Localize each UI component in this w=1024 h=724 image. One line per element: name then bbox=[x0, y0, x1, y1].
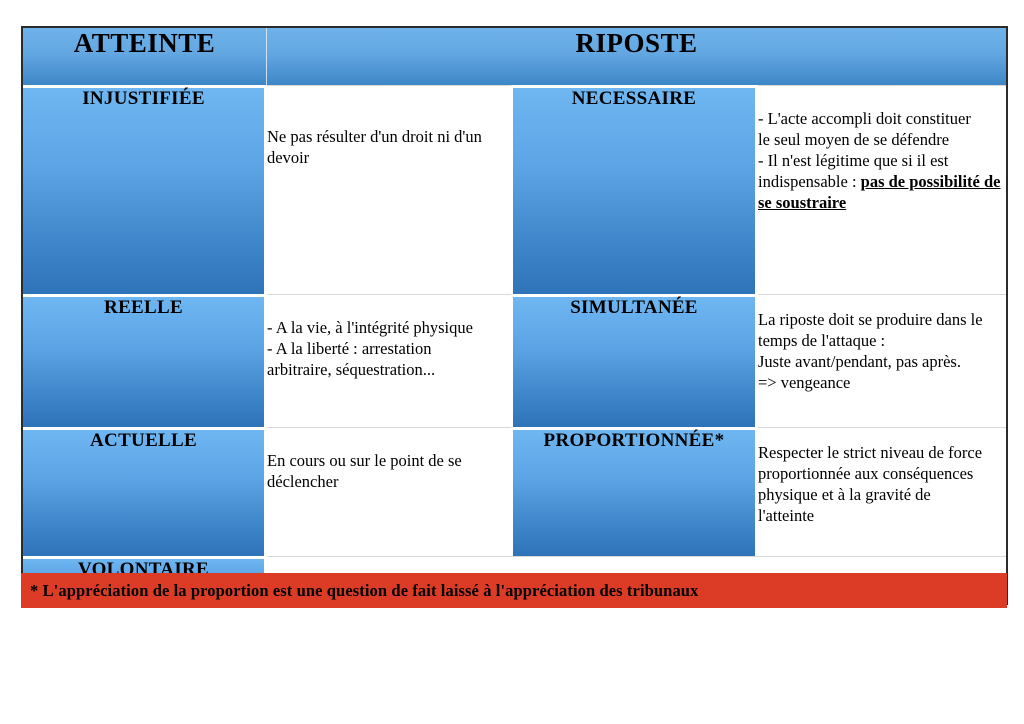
footnote-banner: * L'appréciation de la proportion est un… bbox=[21, 573, 1007, 608]
atteinte-label-injustifiee: INJUSTIFIÉE bbox=[23, 85, 267, 294]
desc-line: Ne pas résulter d'un droit ni d'un bbox=[267, 126, 510, 147]
riposte-label-proportionnee: PROPORTIONNÉE* bbox=[513, 427, 758, 556]
header-atteinte: ATTEINTE bbox=[23, 28, 267, 85]
desc-line: l'atteinte bbox=[758, 505, 1006, 526]
table-row: INJUSTIFIÉE Ne pas résulter d'un droit n… bbox=[23, 85, 1006, 294]
desc-line: temps de l'attaque : bbox=[758, 330, 1006, 351]
atteinte-desc-actuelle: En cours ou sur le point de se déclenche… bbox=[267, 427, 513, 556]
table-row: REELLE - A la vie, à l'intégrité physiqu… bbox=[23, 294, 1006, 427]
desc-line: - A la vie, à l'intégrité physique bbox=[267, 317, 510, 338]
desc-line: le seul moyen de se défendre bbox=[758, 129, 1006, 150]
desc-line: physique et à la gravité de bbox=[758, 484, 1006, 505]
desc-line: déclencher bbox=[267, 471, 510, 492]
atteinte-label-actuelle: ACTUELLE bbox=[23, 427, 267, 556]
atteinte-desc-reelle: - A la vie, à l'intégrité physique - A l… bbox=[267, 294, 513, 427]
desc-line: => vengeance bbox=[758, 372, 1006, 393]
desc-line: - L'acte accompli doit constituer bbox=[758, 108, 1006, 129]
desc-line: indispensable : bbox=[758, 172, 861, 191]
desc-line: Respecter le strict niveau de force bbox=[758, 442, 1006, 463]
desc-line: arbitraire, séquestration... bbox=[267, 359, 510, 380]
slide-page: ATTEINTE RIPOSTE INJUSTIFIÉE Ne pas résu… bbox=[0, 0, 1024, 724]
header-riposte: RIPOSTE bbox=[267, 28, 1006, 85]
table-header-row: ATTEINTE RIPOSTE bbox=[23, 28, 1006, 85]
atteinte-riposte-table: ATTEINTE RIPOSTE INJUSTIFIÉE Ne pas résu… bbox=[21, 26, 1008, 605]
atteinte-label-reelle: REELLE bbox=[23, 294, 267, 427]
desc-line: Juste avant/pendant, pas après. bbox=[758, 351, 1006, 372]
desc-line: En cours ou sur le point de se bbox=[267, 450, 510, 471]
riposte-desc-simultanee: La riposte doit se produire dans le temp… bbox=[758, 294, 1006, 427]
riposte-desc-proportionnee: Respecter le strict niveau de force prop… bbox=[758, 427, 1006, 556]
riposte-label-simultanee: SIMULTANÉE bbox=[513, 294, 758, 427]
table-row: ACTUELLE En cours ou sur le point de se … bbox=[23, 427, 1006, 556]
riposte-label-necessaire: NECESSAIRE bbox=[513, 85, 758, 294]
desc-line: devoir bbox=[267, 147, 510, 168]
riposte-desc-necessaire: - L'acte accompli doit constituer le seu… bbox=[758, 85, 1006, 294]
desc-line: La riposte doit se produire dans le bbox=[758, 309, 1006, 330]
atteinte-desc-injustifiee: Ne pas résulter d'un droit ni d'un devoi… bbox=[267, 85, 513, 294]
desc-line: - Il n'est légitime que si il est bbox=[758, 150, 1006, 171]
desc-line: proportionnée aux conséquences bbox=[758, 463, 1006, 484]
desc-line: - A la liberté : arrestation bbox=[267, 338, 510, 359]
footnote-text: * L'appréciation de la proportion est un… bbox=[21, 581, 698, 601]
